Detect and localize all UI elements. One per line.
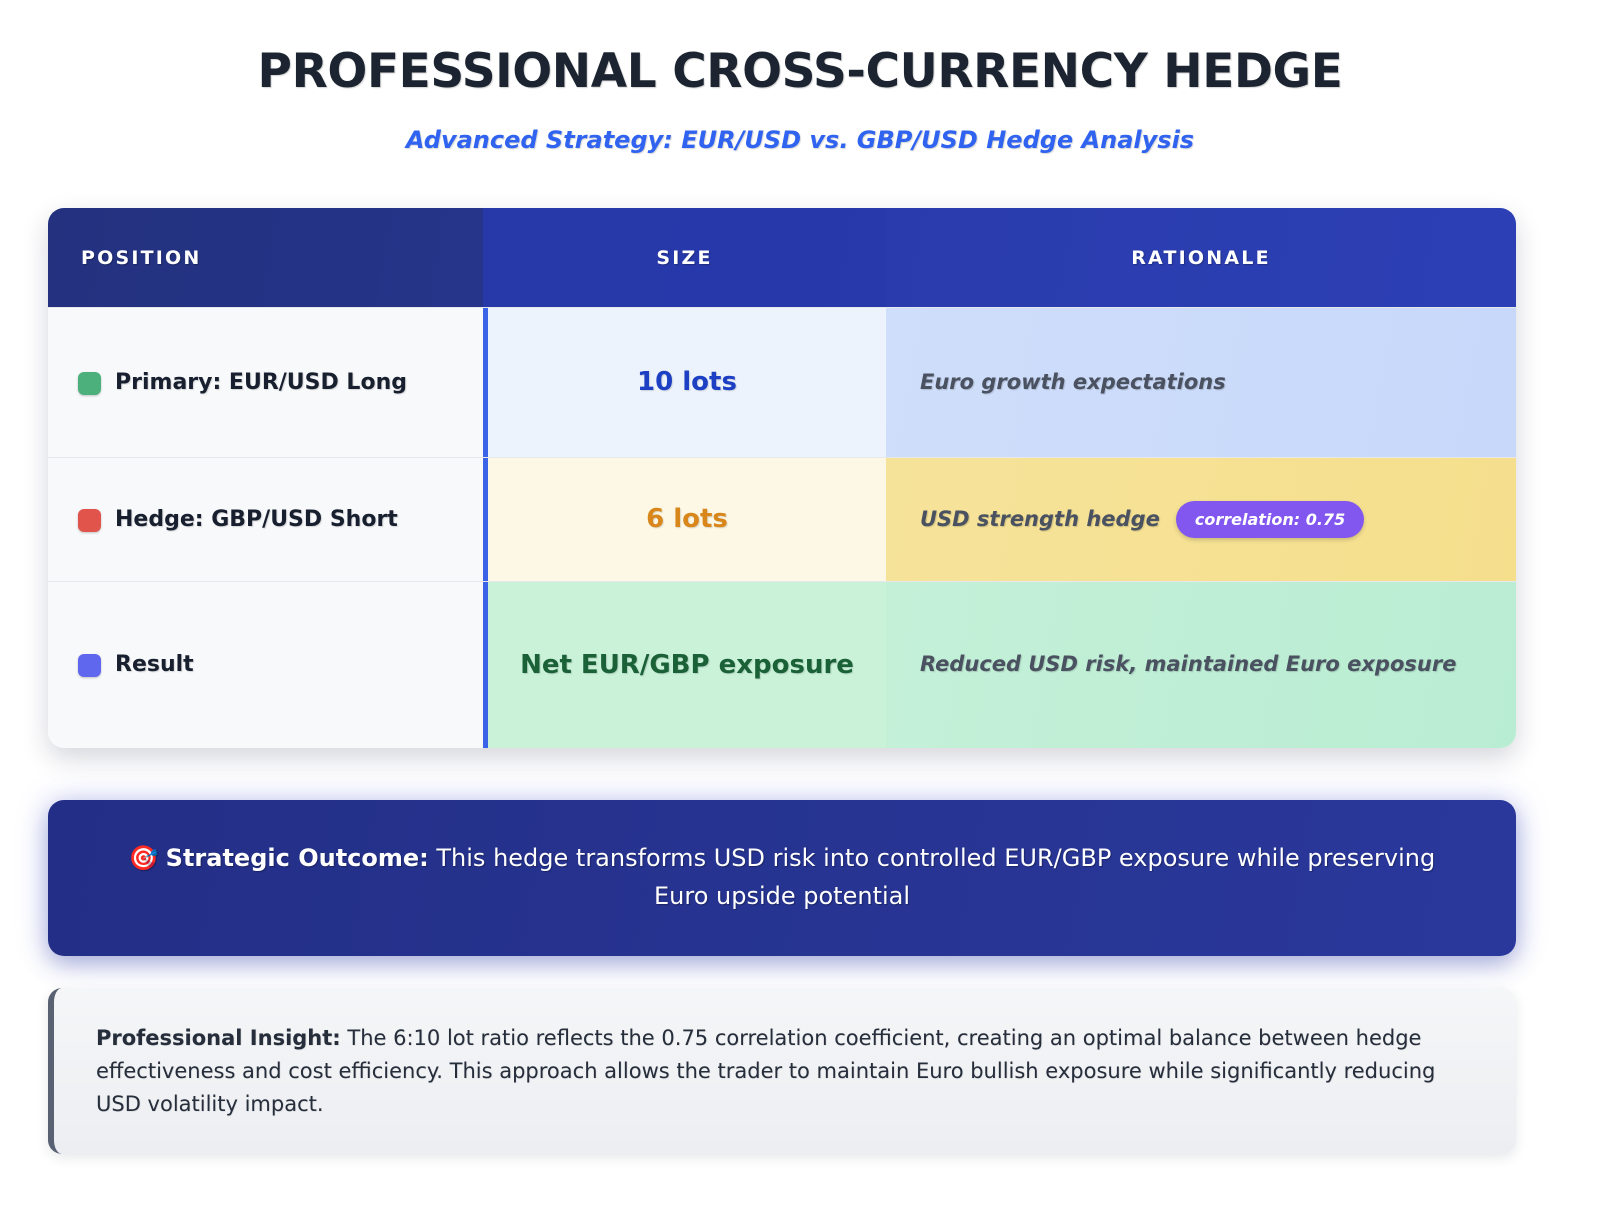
position-label: Primary: EUR/USD Long: [115, 367, 407, 398]
cell-size: Net EUR/GBP exposure: [488, 582, 886, 748]
rationale-text: Reduced USD risk, maintained Euro exposu…: [920, 647, 1456, 682]
cell-position: Result: [48, 582, 483, 748]
strategic-outcome-text: 🎯Strategic Outcome: This hedge transform…: [106, 840, 1458, 916]
table-row: Primary: EUR/USD Long 10 lots Euro growt…: [48, 307, 1516, 457]
size-value: 6 lots: [646, 498, 728, 540]
professional-insight-card: Professional Insight: The 6:10 lot ratio…: [48, 988, 1516, 1154]
cell-rationale: Euro growth expectations: [886, 308, 1516, 457]
cell-size: 6 lots: [488, 458, 886, 581]
professional-insight-text: Professional Insight: The 6:10 lot ratio…: [96, 1022, 1474, 1120]
column-header-position: POSITION: [48, 208, 483, 307]
strategic-outcome-body: This hedge transforms USD risk into cont…: [429, 844, 1435, 910]
positions-table: POSITION SIZE RATIONALE Primary: EUR/USD…: [48, 208, 1516, 748]
professional-insight-label: Professional Insight:: [96, 1026, 341, 1050]
cell-position: Hedge: GBP/USD Short: [48, 458, 483, 581]
position-label: Hedge: GBP/USD Short: [115, 504, 398, 535]
size-value: 10 lots: [637, 361, 737, 403]
hedge-strategy-infographic: PROFESSIONAL CROSS-CURRENCY HEDGE Advanc…: [0, 0, 1600, 1216]
column-header-rationale: RATIONALE: [886, 208, 1516, 307]
position-label: Result: [115, 649, 194, 680]
page-title: PROFESSIONAL CROSS-CURRENCY HEDGE: [0, 0, 1600, 99]
column-header-size: SIZE: [483, 208, 886, 307]
strategic-outcome-banner: 🎯Strategic Outcome: This hedge transform…: [48, 800, 1516, 956]
table-header-row: POSITION SIZE RATIONALE: [48, 208, 1516, 307]
strategic-outcome-label: Strategic Outcome:: [166, 844, 429, 872]
cell-rationale: USD strength hedge correlation: 0.75: [886, 458, 1516, 581]
cell-position: Primary: EUR/USD Long: [48, 308, 483, 457]
dart-target-icon: 🎯: [129, 844, 159, 872]
rationale-text: USD strength hedge: [920, 502, 1160, 537]
size-value: Net EUR/GBP exposure: [520, 644, 854, 686]
green-status-dot: [78, 372, 101, 395]
correlation-badge: correlation: 0.75: [1176, 501, 1364, 538]
indigo-status-dot: [78, 654, 101, 677]
cell-rationale: Reduced USD risk, maintained Euro exposu…: [886, 582, 1516, 748]
page-subtitle: Advanced Strategy: EUR/USD vs. GBP/USD H…: [0, 126, 1600, 154]
red-status-dot: [78, 509, 101, 532]
rationale-text: Euro growth expectations: [920, 365, 1226, 400]
table-row: Result Net EUR/GBP exposure Reduced USD …: [48, 581, 1516, 748]
table-row: Hedge: GBP/USD Short 6 lots USD strength…: [48, 457, 1516, 581]
cell-size: 10 lots: [488, 308, 886, 457]
